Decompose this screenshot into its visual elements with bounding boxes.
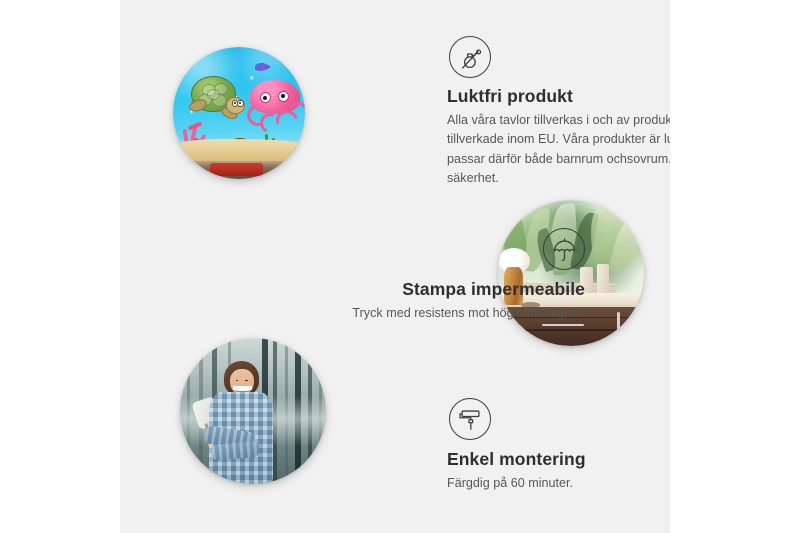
icon-row — [333, 228, 585, 270]
umbrella-icon — [543, 228, 585, 270]
feature-body: Alla våra tavlor tillverkas i och av pro… — [447, 111, 670, 188]
paint-roller-icon — [449, 398, 491, 440]
woman-paint-roller-forest-photo — [180, 338, 326, 484]
feature-waterproof: Stampa impermeabile Tryck med resistens … — [333, 228, 585, 323]
feature-odourless: Luktfri produkt Alla våra tavlor tillver… — [447, 36, 670, 188]
icon-row — [447, 36, 670, 78]
no-scent-perfume-bottle-icon — [449, 36, 491, 78]
bubble-icon — [250, 76, 254, 80]
woman-smile — [233, 386, 252, 391]
feature-body: Färgdig på 60 minuter. — [447, 474, 670, 493]
feature-title: Enkel montering — [447, 449, 670, 469]
feature-body: Tryck med resistens mot hög luftfuktighe… — [333, 304, 585, 323]
feature-assembly: Enkel montering Färgdig på 60 minuter. — [447, 398, 670, 493]
feature-title: Luktfri produkt — [447, 86, 670, 106]
content-panel: Luktfri produkt Alla våra tavlor tillver… — [120, 0, 670, 533]
feature-title: Stampa impermeabile — [333, 279, 585, 299]
screenshot-root: Luktfri produkt Alla våra tavlor tillver… — [0, 0, 800, 533]
icon-row — [447, 398, 670, 440]
room-sofa — [210, 163, 263, 176]
sea-turtle-head — [226, 97, 245, 114]
underwater-cartoon-mural-photo — [173, 47, 305, 179]
